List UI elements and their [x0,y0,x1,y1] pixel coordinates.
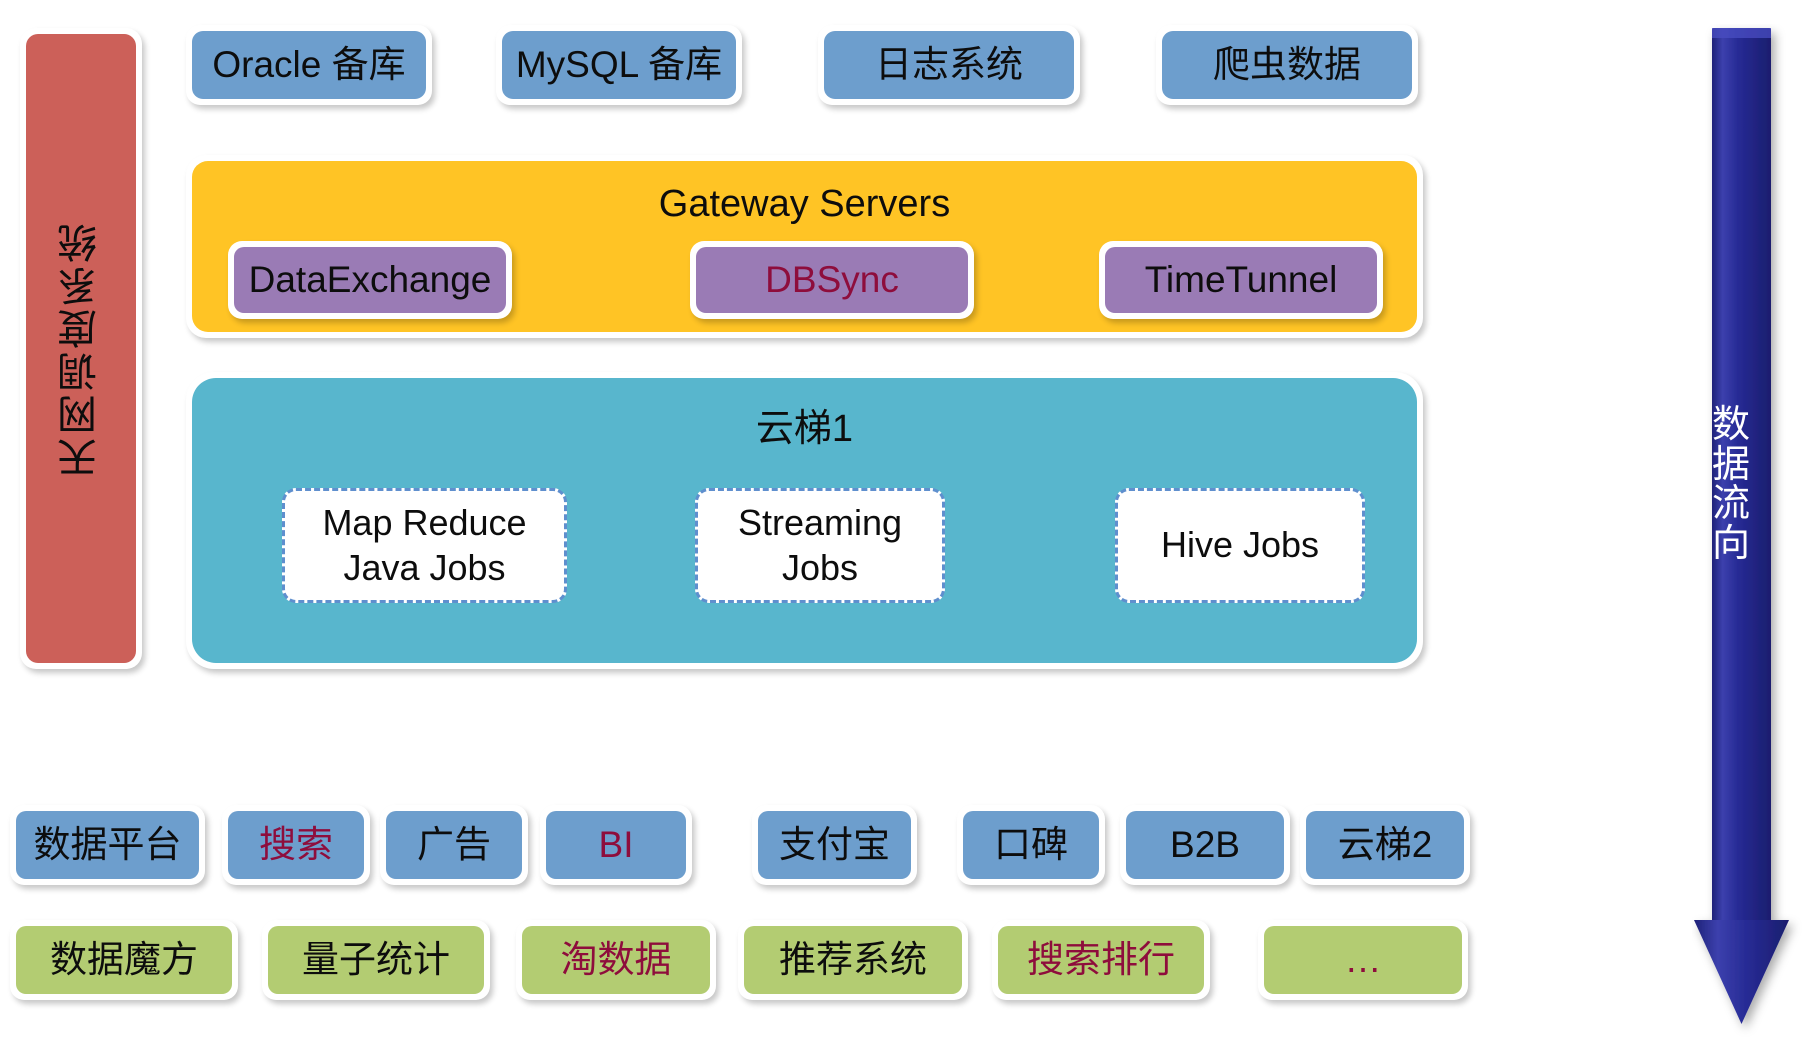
product-label: 淘数据 [561,939,672,982]
gateway-servers-title: Gateway Servers [192,183,1417,227]
consumer-box-b2b[interactable]: B2B [1120,805,1290,885]
consumer-box-koubei[interactable]: 口碑 [957,805,1105,885]
gateway-box-timetunnel[interactable]: TimeTunnel [1099,241,1383,319]
consumer-box-bi[interactable]: BI [540,805,692,885]
source-box-oracle[interactable]: Oracle 备库 [186,25,432,105]
consumer-box-alipay[interactable]: 支付宝 [752,805,917,885]
job-box-hive-jobs[interactable]: Hive Jobs [1115,488,1365,603]
consumer-label: 搜索 [259,824,333,867]
gateway-box-label: DBSync [765,259,899,302]
diagram-canvas: 天网调度系统 Oracle 备库 MySQL 备库 日志系统 爬虫数据 Gate… [0,0,1812,1060]
consumer-label: 支付宝 [779,824,890,867]
consumer-label: 广告 [417,824,491,867]
consumer-box-data-platform[interactable]: 数据平台 [10,805,205,885]
product-label: 数据魔方 [50,939,198,982]
source-label: 爬虫数据 [1213,44,1361,87]
product-box-more[interactable]: … [1258,920,1468,1000]
consumer-label: 数据平台 [34,824,182,867]
data-flow-arrow: 数 据 流 向 [1692,24,1810,1044]
consumer-box-yunti2[interactable]: 云梯2 [1300,805,1470,885]
arrow-shape [1694,28,1789,1024]
source-label: 日志系统 [875,44,1023,87]
product-box-taoshuju[interactable]: 淘数据 [516,920,716,1000]
consumer-label: 云梯2 [1338,824,1433,867]
product-box-data-cube[interactable]: 数据魔方 [10,920,238,1000]
source-box-crawler-data[interactable]: 爬虫数据 [1156,25,1418,105]
yunti1-panel: 云梯1 Map Reduce Java Jobs Streaming Jobs … [186,372,1423,669]
source-label: MySQL 备库 [516,44,722,87]
consumer-box-advertising[interactable]: 广告 [380,805,528,885]
product-label: 推荐系统 [779,939,927,982]
scheduler-bar[interactable]: 天网调度系统 [20,28,142,669]
product-label: … [1345,939,1382,982]
gateway-box-dataexchange[interactable]: DataExchange [228,241,512,319]
gateway-box-dbsync[interactable]: DBSync [690,241,974,319]
gateway-box-label: TimeTunnel [1145,259,1338,302]
source-box-log-system[interactable]: 日志系统 [818,25,1080,105]
consumer-label: B2B [1170,824,1240,867]
job-box-streaming-jobs[interactable]: Streaming Jobs [695,488,945,603]
scheduler-bar-label: 天网调度系统 [58,220,104,478]
consumer-box-search[interactable]: 搜索 [222,805,370,885]
source-label: Oracle 备库 [212,44,405,87]
product-label: 搜索排行 [1027,939,1175,982]
gateway-box-label: DataExchange [249,259,492,302]
job-box-map-reduce-java-jobs[interactable]: Map Reduce Java Jobs [282,488,567,603]
product-box-quantum-stats[interactable]: 量子统计 [262,920,490,1000]
product-box-recommendation-system[interactable]: 推荐系统 [738,920,968,1000]
yunti1-title: 云梯1 [192,408,1417,452]
consumer-label: 口碑 [994,824,1068,867]
product-box-search-ranking[interactable]: 搜索排行 [992,920,1210,1000]
gateway-servers-panel: Gateway Servers DataExchange DBSync Time… [186,155,1423,338]
consumer-label: BI [599,824,634,867]
product-label: 量子统计 [302,939,450,982]
source-box-mysql[interactable]: MySQL 备库 [496,25,742,105]
